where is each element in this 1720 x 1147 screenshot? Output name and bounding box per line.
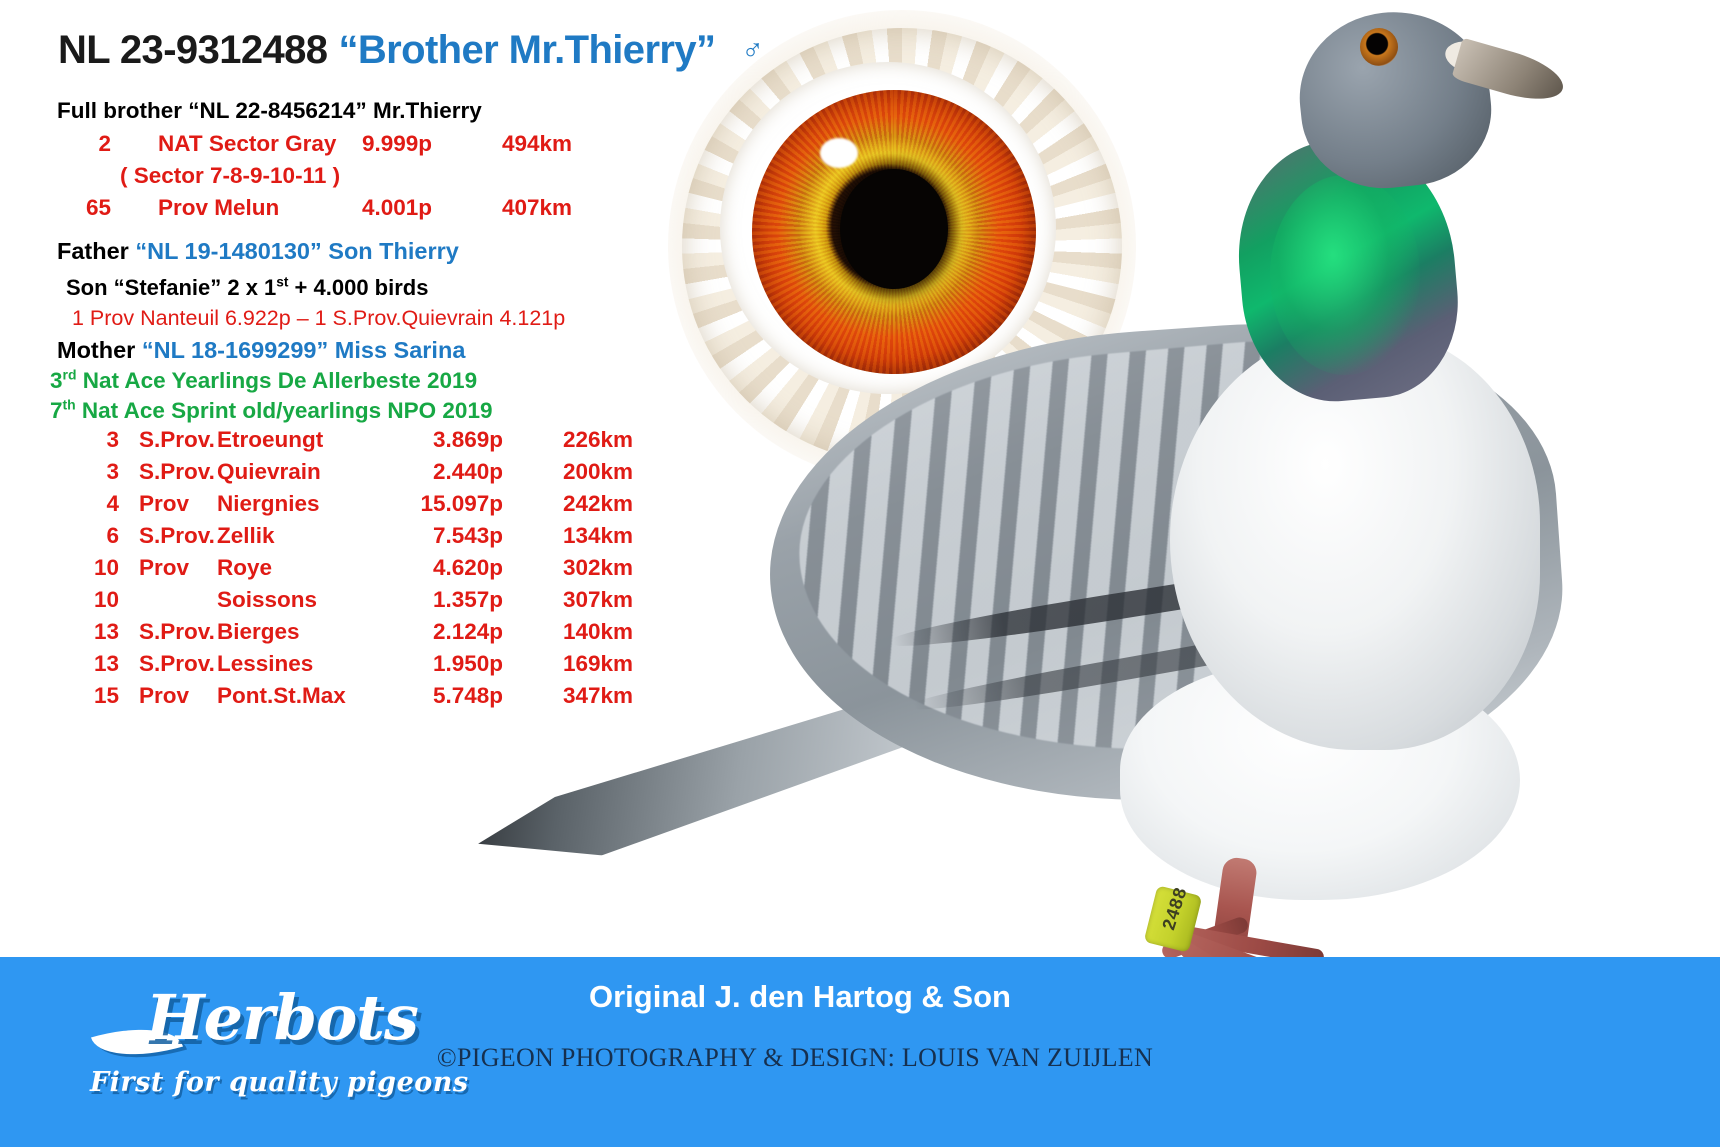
result-position: 3 xyxy=(57,459,119,485)
pedigree-text-panel: NL 23-9312488 “Brother Mr.Thierry” ♂ Ful… xyxy=(0,0,760,800)
result-distance: 347km xyxy=(503,683,633,709)
page-title: NL 23-9312488 “Brother Mr.Thierry” ♂ xyxy=(58,28,764,73)
result-category: S.Prov. xyxy=(119,651,211,677)
result-race: Etroeungt xyxy=(211,427,385,453)
ring-number: NL 23-9312488 xyxy=(58,28,327,73)
result-category: S.Prov. xyxy=(119,523,211,549)
result-race: Pont.St.Max xyxy=(211,683,385,709)
result-birds: 1.357p xyxy=(385,587,503,613)
table-row-note: ( Sector 7-8-9-10-11 ) xyxy=(57,163,572,195)
result-birds: 3.869p xyxy=(385,427,503,453)
result-birds: 4.001p xyxy=(307,195,432,221)
result-position: 65 xyxy=(57,195,111,221)
result-birds: 7.543p xyxy=(385,523,503,549)
sector-note: ( Sector 7-8-9-10-11 ) xyxy=(57,163,340,189)
bottom-banner: Herbots First for quality pigeons Origin… xyxy=(0,957,1720,1147)
full-brother-results: 2 NAT Sector Gray 9.999p 494km ( Sector … xyxy=(57,131,572,227)
ace-title-text: Nat Ace Sprint old/yearlings NPO 2019 xyxy=(76,398,493,423)
photo-credit: ©PIGEON PHOTOGRAPHY & DESIGN: LOUIS VAN … xyxy=(0,1043,1720,1073)
result-category: S.Prov. xyxy=(119,427,211,453)
result-position: 13 xyxy=(57,619,119,645)
result-distance: 226km xyxy=(503,427,633,453)
ace-rank-suffix: rd xyxy=(63,367,77,383)
male-gender-icon: ♂ xyxy=(741,34,764,68)
result-category: S.Prov. xyxy=(119,619,211,645)
father-line: Father “NL 19-1480130” Son Thierry xyxy=(57,240,459,264)
result-race: Roye xyxy=(211,555,385,581)
result-position: 3 xyxy=(57,427,119,453)
result-race: Niergnies xyxy=(211,491,385,517)
result-race: Prov Melun xyxy=(111,195,307,221)
result-birds: 1.950p xyxy=(385,651,503,677)
result-distance: 140km xyxy=(503,619,633,645)
table-row: 3 S.Prov. Etroeungt 3.869p 226km xyxy=(57,427,633,459)
result-position: 2 xyxy=(57,131,111,157)
father-son-line: Son “Stefanie” 2 x 1st + 4.000 birds xyxy=(66,277,428,299)
result-birds: 9.999p xyxy=(307,131,432,157)
pedigree-card: 2488 NL 23-9312488 “Brother Mr.Thierry” … xyxy=(0,0,1720,1147)
father-results-line: 1 Prov Nanteuil 6.922p – 1 S.Prov.Quievr… xyxy=(72,308,565,330)
ace-rank-suffix: th xyxy=(63,397,76,413)
mother-results-table: 3 S.Prov. Etroeungt 3.869p 226km 3 S.Pro… xyxy=(57,427,633,715)
result-position: 4 xyxy=(57,491,119,517)
mother-label: Mother xyxy=(57,337,135,363)
mother-ring-value: “NL 18-1699299” Miss Sarina xyxy=(142,337,466,363)
result-race: Zellik xyxy=(211,523,385,549)
result-distance: 169km xyxy=(503,651,633,677)
son-line-post: + 4.000 birds xyxy=(288,275,428,300)
table-row: 13 S.Prov. Lessines 1.950p 169km xyxy=(57,651,633,683)
table-row: 65 Prov Melun 4.001p 407km xyxy=(57,195,572,227)
mother-line: Mother “NL 18-1699299” Miss Sarina xyxy=(57,339,465,363)
result-distance: 200km xyxy=(503,459,633,485)
son-line-pre: Son “Stefanie” 2 x 1 xyxy=(66,275,276,300)
result-race: Lessines xyxy=(211,651,385,677)
table-row: 10 Prov Roye 4.620p 302km xyxy=(57,555,633,587)
result-distance: 307km xyxy=(503,587,633,613)
result-birds: 15.097p xyxy=(385,491,503,517)
ace-rank: 3 xyxy=(50,368,63,393)
result-distance: 134km xyxy=(503,523,633,549)
pigeon-neck-sheen xyxy=(1270,175,1420,375)
result-birds: 5.748p xyxy=(385,683,503,709)
mother-ace-title-2: 7th Nat Ace Sprint old/yearlings NPO 201… xyxy=(50,400,492,423)
table-row: 15 Prov Pont.St.Max 5.748p 347km xyxy=(57,683,633,715)
result-position: 6 xyxy=(57,523,119,549)
result-race: Quievrain xyxy=(211,459,385,485)
result-distance: 494km xyxy=(432,131,572,157)
father-ring-value: “NL 19-1480130” Son Thierry xyxy=(135,238,459,264)
table-row: 10 Soissons 1.357p 307km xyxy=(57,587,633,619)
result-distance: 302km xyxy=(503,555,633,581)
result-position: 10 xyxy=(57,555,119,581)
result-distance: 242km xyxy=(503,491,633,517)
table-row: 2 NAT Sector Gray 9.999p 494km xyxy=(57,131,572,163)
ace-rank: 7 xyxy=(50,398,63,423)
full-brother-heading: Full brother “NL 22-8456214” Mr.Thierry xyxy=(57,100,482,123)
result-position: 10 xyxy=(57,587,119,613)
son-line-sup: st xyxy=(276,275,288,290)
result-category: Prov xyxy=(119,683,211,709)
table-row: 13 S.Prov. Bierges 2.124p 140km xyxy=(57,619,633,651)
result-category: Prov xyxy=(119,555,211,581)
result-race: Bierges xyxy=(211,619,385,645)
result-birds: 2.440p xyxy=(385,459,503,485)
result-birds: 4.620p xyxy=(385,555,503,581)
table-row: 4 Prov Niergnies 15.097p 242km xyxy=(57,491,633,523)
ace-title-text: Nat Ace Yearlings De Allerbeste 2019 xyxy=(76,368,477,393)
result-race: Soissons xyxy=(211,587,385,613)
father-label: Father xyxy=(57,238,129,264)
result-race: NAT Sector Gray xyxy=(111,131,307,157)
banner-title: Original J. den Hartog & Son xyxy=(0,979,1720,1015)
result-distance: 407km xyxy=(432,195,572,221)
table-row: 3 S.Prov. Quievrain 2.440p 200km xyxy=(57,459,633,491)
result-birds: 2.124p xyxy=(385,619,503,645)
result-position: 13 xyxy=(57,651,119,677)
mother-ace-title-1: 3rd Nat Ace Yearlings De Allerbeste 2019 xyxy=(50,370,477,393)
result-position: 15 xyxy=(57,683,119,709)
result-category: Prov xyxy=(119,491,211,517)
pigeon-head-eye xyxy=(1360,28,1398,66)
result-category: S.Prov. xyxy=(119,459,211,485)
pigeon-name: “Brother Mr.Thierry” xyxy=(338,28,715,73)
table-row: 6 S.Prov. Zellik 7.543p 134km xyxy=(57,523,633,555)
